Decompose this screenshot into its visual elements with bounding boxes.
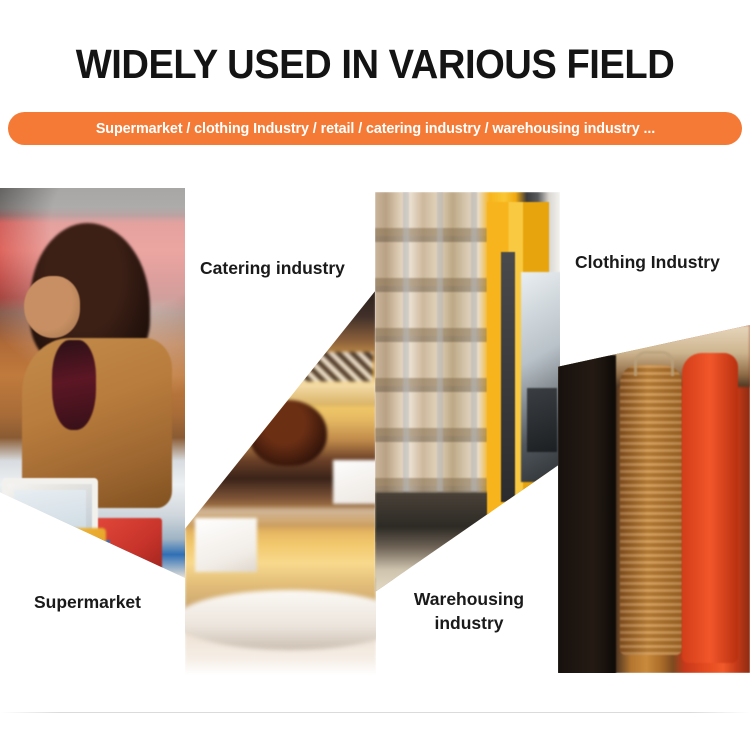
catering-photo-tray-upper [185,382,376,406]
industry-collage: Catering industry Clothing Industry Supe… [0,170,750,690]
supermarket-photo-screen [14,490,86,552]
bottom-divider [0,712,750,713]
supermarket-photo-counter [92,518,162,574]
catering-photo-price-card-left [195,518,257,572]
caption-catering-industry: Catering industry [200,256,345,280]
industries-banner: Supermarket / clothing Industry / retail… [8,112,742,145]
clothing-photo-red-coat [682,353,738,663]
catering-photo-checkered-pastry [293,352,373,382]
warehouse-photo-forklift-window [527,388,557,452]
catering-photo-plate [185,590,376,650]
photo-clothing [558,325,750,673]
photo-supermarket [0,188,185,578]
photo-catering [185,290,376,675]
catering-photo-dark-bowl [249,400,327,466]
poster-page: WIDELY USED IN VARIOUS FIELD Supermarket… [0,0,750,750]
warehouse-photo-forklift-base [483,522,560,592]
clothing-photo-knit-garment [620,365,682,655]
industries-banner-text: Supermarket / clothing Industry / retail… [95,121,654,137]
supermarket-photo-face [24,276,80,338]
warehouse-photo-forklift-mast [501,252,515,502]
supermarket-photo-scarf [52,340,96,430]
supermarket-photo-produce [44,528,106,554]
catering-photo-price-card-right [333,460,376,504]
photo-warehousing [375,192,560,592]
supermarket-photo-floor [0,540,110,578]
clothing-photo-hanger [634,351,674,376]
caption-warehousing-industry: Warehousing industry [404,587,534,635]
caption-clothing-industry: Clothing Industry [575,250,720,274]
clothing-photo-black-garment [558,355,616,673]
page-title: WIDELY USED IN VARIOUS FIELD [26,38,724,90]
caption-supermarket: Supermarket [34,590,141,614]
warehouse-photo-lower-shelf [375,492,490,592]
